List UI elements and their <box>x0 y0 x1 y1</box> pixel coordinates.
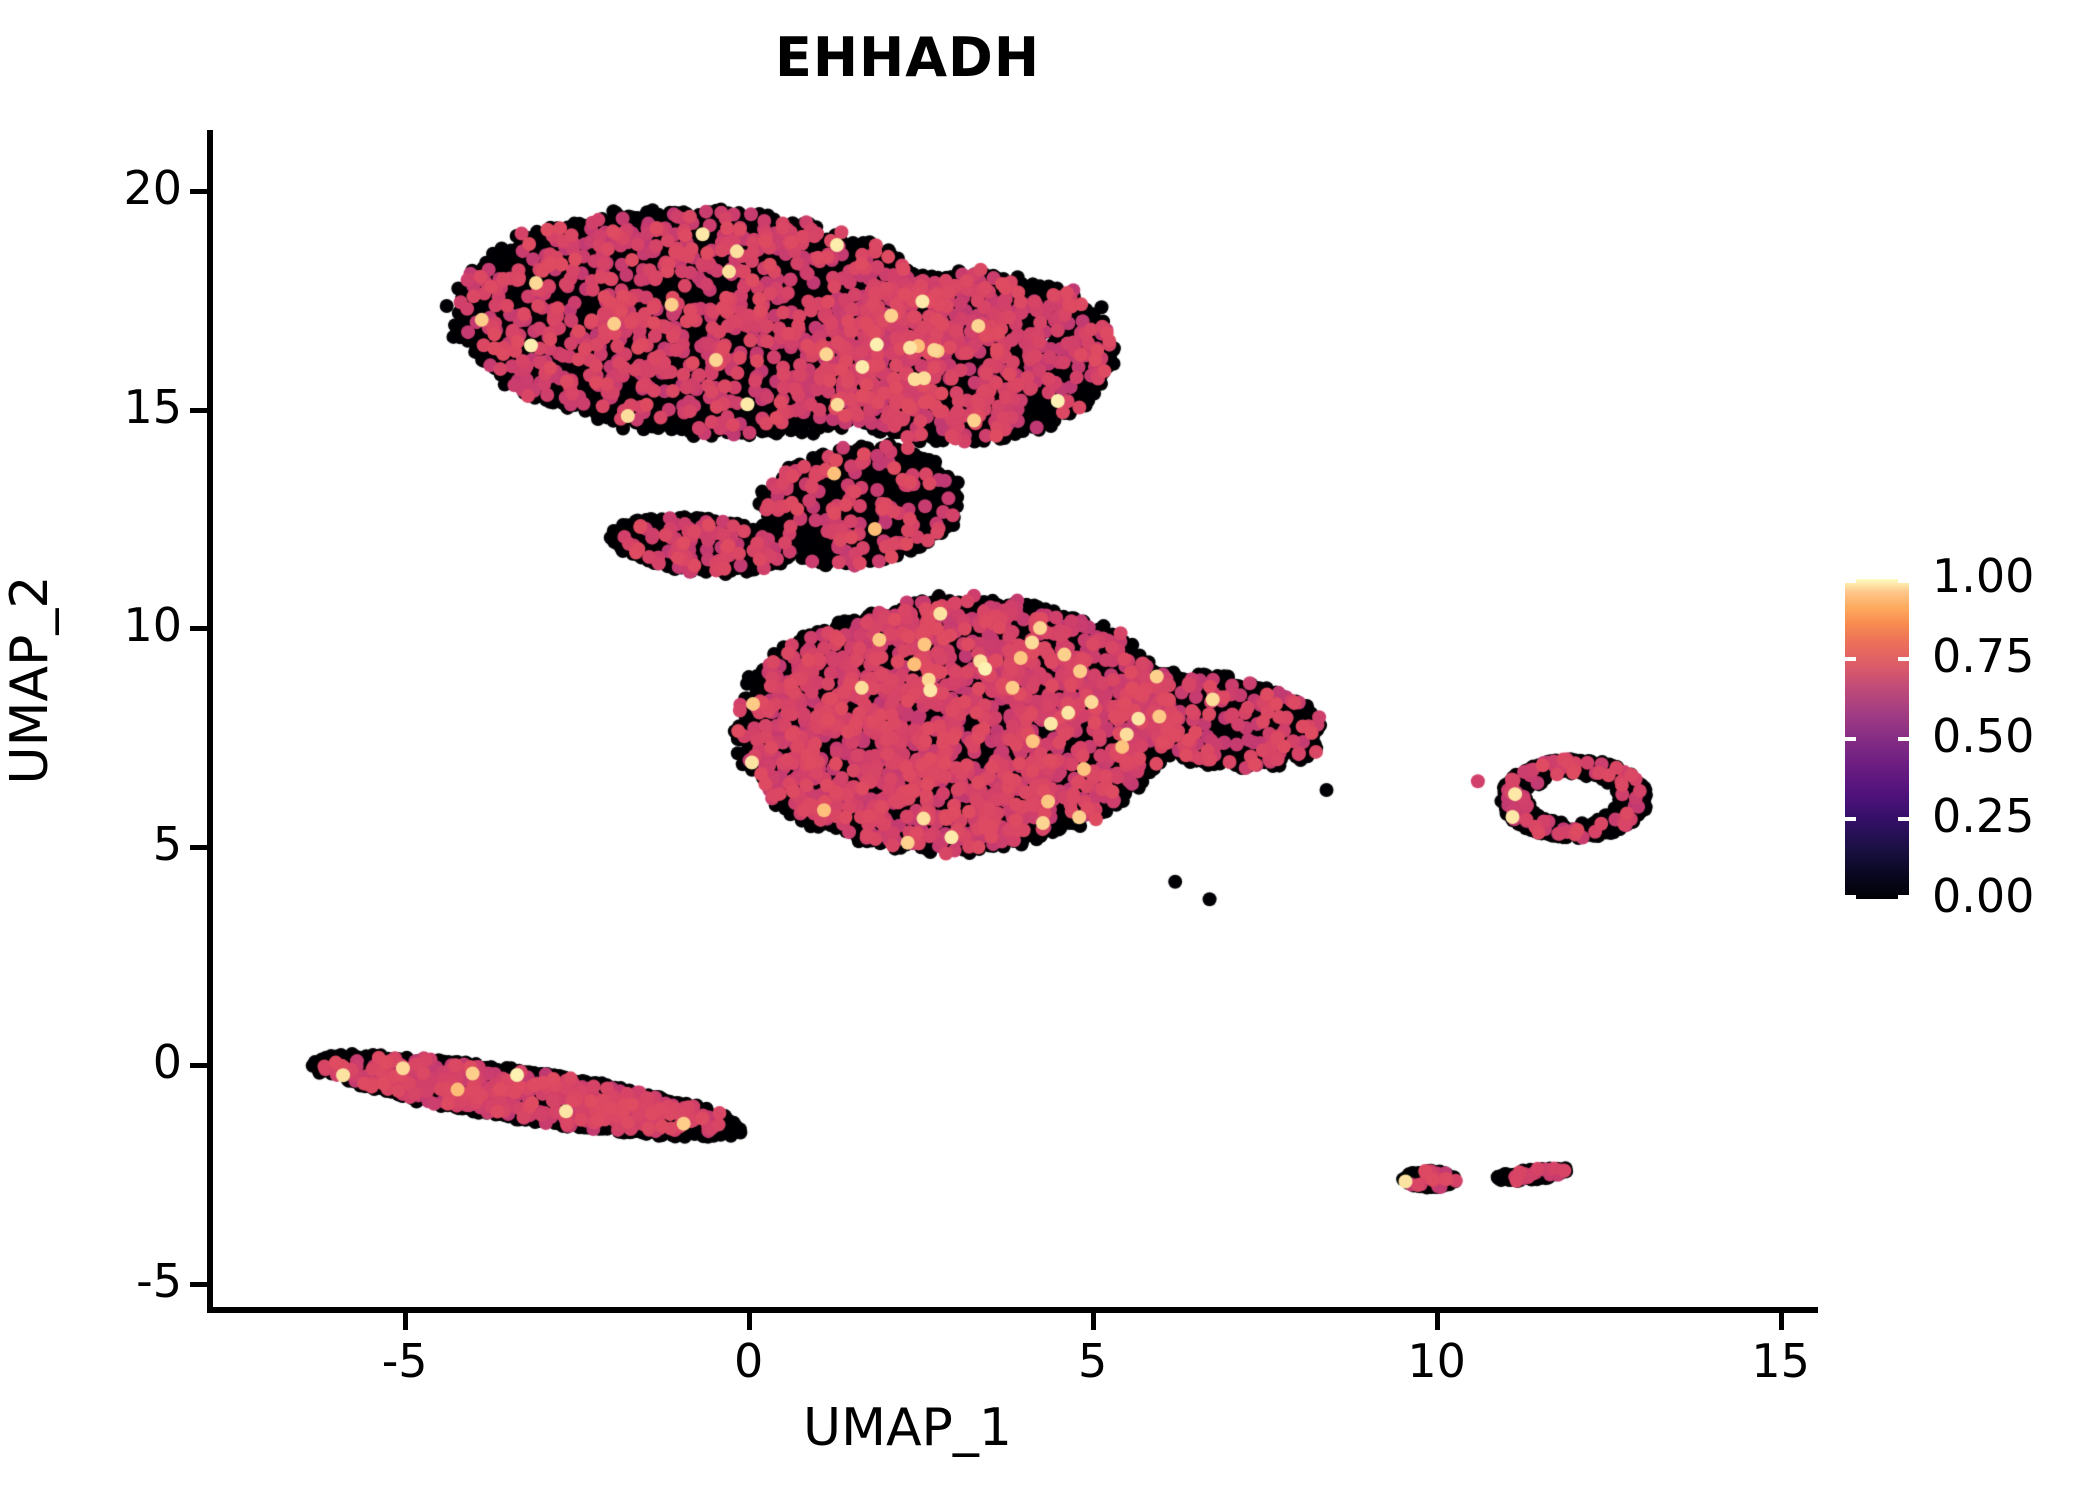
y-axis-spine <box>207 130 213 1313</box>
colorbar <box>1845 579 1909 899</box>
colorbar-tick-mark <box>1898 737 1909 741</box>
colorbar-tick-label: 0.25 <box>1932 789 2034 843</box>
colorbar-tick-label: 0.00 <box>1932 869 2034 923</box>
y-tick-label: 20 <box>123 161 182 215</box>
y-tick-label: -5 <box>136 1254 182 1308</box>
y-tick-label: 10 <box>123 598 182 652</box>
colorbar-tick-label: 1.00 <box>1932 549 2034 603</box>
colorbar-tick-mark <box>1845 737 1856 741</box>
page-title: EHHADH <box>0 26 1815 89</box>
scatter-canvas <box>212 130 1815 1310</box>
colorbar-tick-mark <box>1845 657 1856 661</box>
colorbar-tick-mark <box>1845 817 1856 821</box>
y-tick-mark <box>190 189 207 194</box>
y-tick-mark <box>190 1063 207 1068</box>
chart-root: EHHADH -505101520 -5051015 UMAP_1 UMAP_2… <box>0 0 2100 1500</box>
x-tick-label: -5 <box>305 1334 505 1388</box>
x-tick-mark <box>1091 1313 1096 1330</box>
colorbar-tick-mark <box>1898 657 1909 661</box>
colorbar-tick-label: 0.50 <box>1932 709 2034 763</box>
y-tick-mark <box>190 626 207 631</box>
scatter-plot-area <box>212 130 1815 1310</box>
x-tick-label: 0 <box>649 1334 849 1388</box>
y-axis-label: UMAP_2 <box>0 380 60 980</box>
colorbar-tick-mark <box>1845 579 1856 583</box>
colorbar-tick-mark <box>1845 895 1856 899</box>
x-tick-label: 15 <box>1681 1334 1881 1388</box>
colorbar-tick-label: 0.75 <box>1932 629 2034 683</box>
y-tick-label: 0 <box>153 1035 182 1089</box>
x-tick-mark <box>403 1313 408 1330</box>
x-tick-mark <box>1779 1313 1784 1330</box>
y-tick-mark <box>190 845 207 850</box>
y-tick-label: 15 <box>123 380 182 434</box>
colorbar-tick-mark <box>1898 817 1909 821</box>
colorbar-tick-mark <box>1898 895 1909 899</box>
x-tick-label: 10 <box>1337 1334 1537 1388</box>
x-tick-mark <box>1435 1313 1440 1330</box>
y-tick-mark <box>190 1282 207 1287</box>
x-tick-label: 5 <box>993 1334 1193 1388</box>
y-tick-label: 5 <box>153 817 182 871</box>
x-axis-label: UMAP_1 <box>0 1398 1815 1458</box>
y-tick-mark <box>190 408 207 413</box>
x-tick-mark <box>747 1313 752 1330</box>
x-axis-spine <box>207 1307 1818 1313</box>
colorbar-tick-mark <box>1898 579 1909 583</box>
